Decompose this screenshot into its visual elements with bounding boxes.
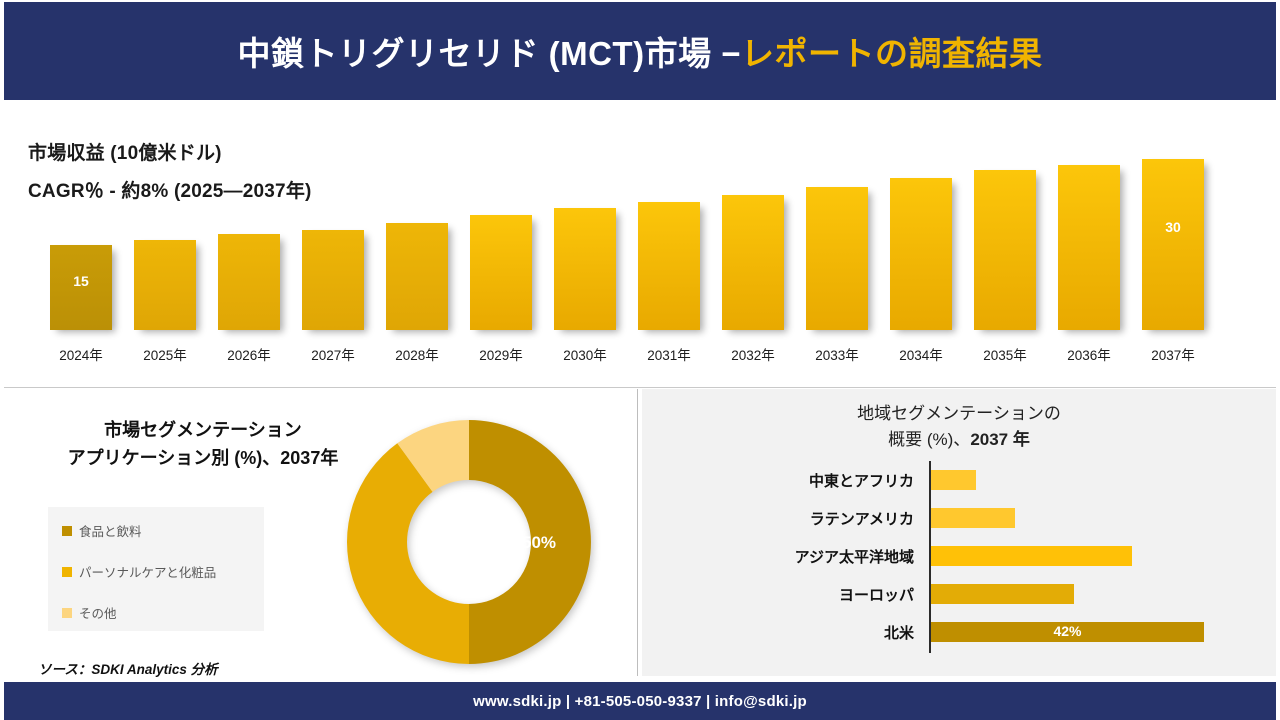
region-bar[interactable]	[931, 584, 1074, 604]
legend-item[interactable]: パーソナルケアと化粧品	[62, 562, 252, 581]
revenue-bar[interactable]: 2028年	[386, 223, 448, 330]
bar-slot: 2035年	[974, 170, 1036, 330]
region-bar[interactable]: 42%	[931, 622, 1204, 642]
donut-title-line1: 市場セグメンテーション	[104, 420, 302, 440]
region-bar[interactable]	[931, 546, 1132, 566]
bar-slot: 2026年	[218, 234, 280, 330]
legend-swatch-icon	[62, 567, 72, 577]
revenue-bar-xlabel: 2034年	[881, 344, 961, 364]
source-note: ソース：SDKI Analytics 分析	[38, 658, 218, 678]
revenue-bar[interactable]: 2025年	[134, 240, 196, 330]
bar-slot: 2025年	[134, 240, 196, 330]
bar-slot: 2033年	[806, 187, 868, 330]
region-row: 北米42%	[642, 613, 1276, 651]
region-title-line1: 地域セグメンテーションの	[857, 404, 1061, 423]
region-bar[interactable]	[931, 508, 1015, 528]
donut-chart: 50%	[344, 417, 594, 667]
region-chart-title: 地域セグメンテーションの 概要 (%)、2037 年	[642, 401, 1276, 452]
bar-slot: 2028年	[386, 223, 448, 330]
bar-slot: 2036年	[1058, 165, 1120, 330]
legend-item-label: パーソナルケアと化粧品	[79, 562, 216, 581]
revenue-bar[interactable]: 2029年	[470, 215, 532, 330]
region-row-label: ヨーロッパ	[642, 584, 924, 605]
revenue-bar-xlabel: 2030年	[545, 344, 625, 364]
bar-slot: 2027年	[302, 230, 364, 330]
page-title: 中鎖トリグリセリド (MCT)市場 −レポートの調査結果	[237, 27, 1042, 75]
header-band: 中鎖トリグリセリド (MCT)市場 −レポートの調査結果	[4, 2, 1276, 100]
revenue-bar[interactable]: 2036年	[1058, 165, 1120, 330]
revenue-bar-xlabel: 2037年	[1133, 344, 1213, 364]
revenue-bar[interactable]: 2030年	[554, 208, 616, 330]
region-row-label: 中東とアフリカ	[642, 470, 924, 491]
revenue-bar-xlabel: 2033年	[797, 344, 877, 364]
region-bar[interactable]	[931, 470, 976, 490]
region-row-label: 北米	[642, 622, 924, 643]
donut-title-line2: アプリケーション別 (%)、2037年	[38, 445, 368, 473]
region-row: アジア太平洋地域	[642, 537, 1276, 575]
region-row: 中東とアフリカ	[642, 461, 1276, 499]
revenue-bar-value: 30	[1142, 219, 1204, 235]
revenue-bar-xlabel: 2026年	[209, 344, 289, 364]
revenue-bar-value: 15	[50, 273, 112, 289]
legend-item-label: 食品と飲料	[79, 521, 142, 540]
revenue-bars-area: 152024年2025年2026年2027年2028年2029年2030年203…	[50, 124, 1240, 370]
donut-chart-svg	[344, 417, 594, 667]
revenue-bar[interactable]: 2032年	[722, 195, 784, 330]
donut-chart-title: 市場セグメンテーション アプリケーション別 (%)、2037年	[38, 417, 368, 473]
page-title-accent: レポートの調査結果	[741, 35, 1043, 72]
bar-slot: 2029年	[470, 215, 532, 330]
slide-root: 中鎖トリグリセリド (MCT)市場 −レポートの調査結果 市場収益 (10億米ド…	[0, 0, 1280, 720]
revenue-bar-xlabel: 2031年	[629, 344, 709, 364]
revenue-bar[interactable]: 2026年	[218, 234, 280, 330]
legend-item[interactable]: 食品と飲料	[62, 521, 252, 540]
bar-slot: 2034年	[890, 178, 952, 330]
revenue-bar[interactable]: 2031年	[638, 202, 700, 330]
revenue-bar-chart-panel: 市場収益 (10億米ドル) CAGR％ - 約8% (2025―2037年) 1…	[4, 104, 1276, 388]
revenue-bar-xlabel: 2025年	[125, 344, 205, 364]
revenue-bar-xlabel: 2032年	[713, 344, 793, 364]
revenue-bar-xlabel: 2035年	[965, 344, 1045, 364]
legend-item-label: その他	[79, 603, 117, 622]
revenue-bar-xlabel: 2028年	[377, 344, 457, 364]
legend-swatch-icon	[62, 526, 72, 536]
regional-segmentation-panel: 地域セグメンテーションの 概要 (%)、2037 年 中東とアフリカラテンアメリ…	[642, 389, 1276, 676]
revenue-bar[interactable]: 302037年	[1142, 159, 1204, 330]
revenue-bar-xlabel: 2027年	[293, 344, 373, 364]
bar-slot: 152024年	[50, 245, 112, 330]
revenue-bar[interactable]: 2034年	[890, 178, 952, 330]
footer-contact: www.sdki.jp | +81-505-050-9337 | info@sd…	[473, 693, 807, 710]
revenue-bar-xlabel: 2036年	[1049, 344, 1129, 364]
bar-slot: 302037年	[1142, 159, 1204, 330]
bar-slot: 2030年	[554, 208, 616, 330]
donut-legend: 食品と飲料パーソナルケアと化粧品その他	[48, 507, 264, 631]
revenue-bar[interactable]: 2035年	[974, 170, 1036, 330]
region-row: ヨーロッパ	[642, 575, 1276, 613]
region-bars-area: 中東とアフリカラテンアメリカアジア太平洋地域ヨーロッパ北米42%	[642, 461, 1276, 661]
legend-item[interactable]: その他	[62, 603, 252, 622]
page-title-primary: 中鎖トリグリセリド (MCT)市場 −	[237, 35, 741, 72]
revenue-bar[interactable]: 152024年	[50, 245, 112, 330]
application-segmentation-panel: 市場セグメンテーション アプリケーション別 (%)、2037年 食品と飲料パーソ…	[4, 389, 638, 676]
region-bar-value: 42%	[931, 623, 1204, 639]
region-row-label: アジア太平洋地域	[642, 546, 924, 567]
region-title-line2-plain: 概要 (%)、	[888, 430, 970, 449]
bar-slot: 2032年	[722, 195, 784, 330]
bar-slot: 2031年	[638, 202, 700, 330]
footer-band: www.sdki.jp | +81-505-050-9337 | info@sd…	[4, 682, 1276, 720]
region-row-label: ラテンアメリカ	[642, 508, 924, 529]
revenue-bar[interactable]: 2033年	[806, 187, 868, 330]
revenue-bar-xlabel: 2029年	[461, 344, 541, 364]
legend-swatch-icon	[62, 608, 72, 618]
region-title-line2-bold: 2037 年	[970, 430, 1030, 449]
revenue-bar-xlabel: 2024年	[41, 344, 121, 364]
region-row: ラテンアメリカ	[642, 499, 1276, 537]
donut-primary-value: 50%	[522, 533, 556, 553]
revenue-bar[interactable]: 2027年	[302, 230, 364, 330]
